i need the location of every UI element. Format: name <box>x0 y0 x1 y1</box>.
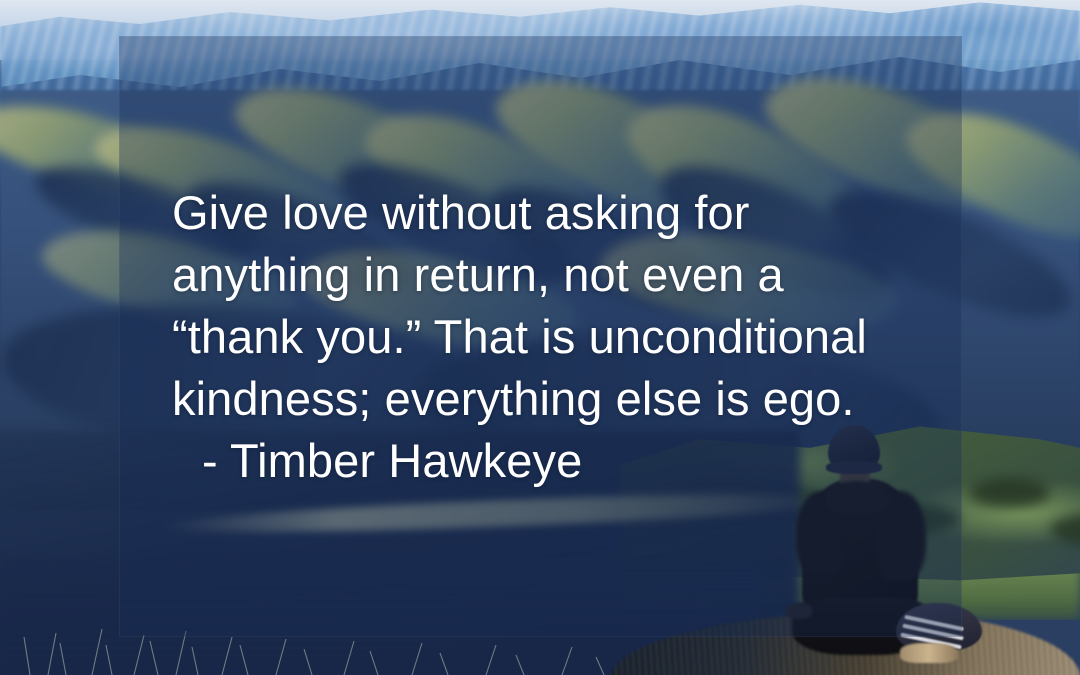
quote-image-canvas: Give love without asking for anything in… <box>0 0 1080 675</box>
quote-text-block: Give love without asking for anything in… <box>172 182 972 492</box>
quote-line-3: “thank you.” That is unconditional <box>172 306 972 368</box>
quote-line-2: anything in return, not even a <box>172 244 972 306</box>
person-shoe <box>900 643 958 663</box>
quote-attribution: - Timber Hawkeye <box>202 430 972 492</box>
quote-line-4: kindness; everything else is ego. <box>172 368 972 430</box>
quote-line-1: Give love without asking for <box>172 182 972 244</box>
